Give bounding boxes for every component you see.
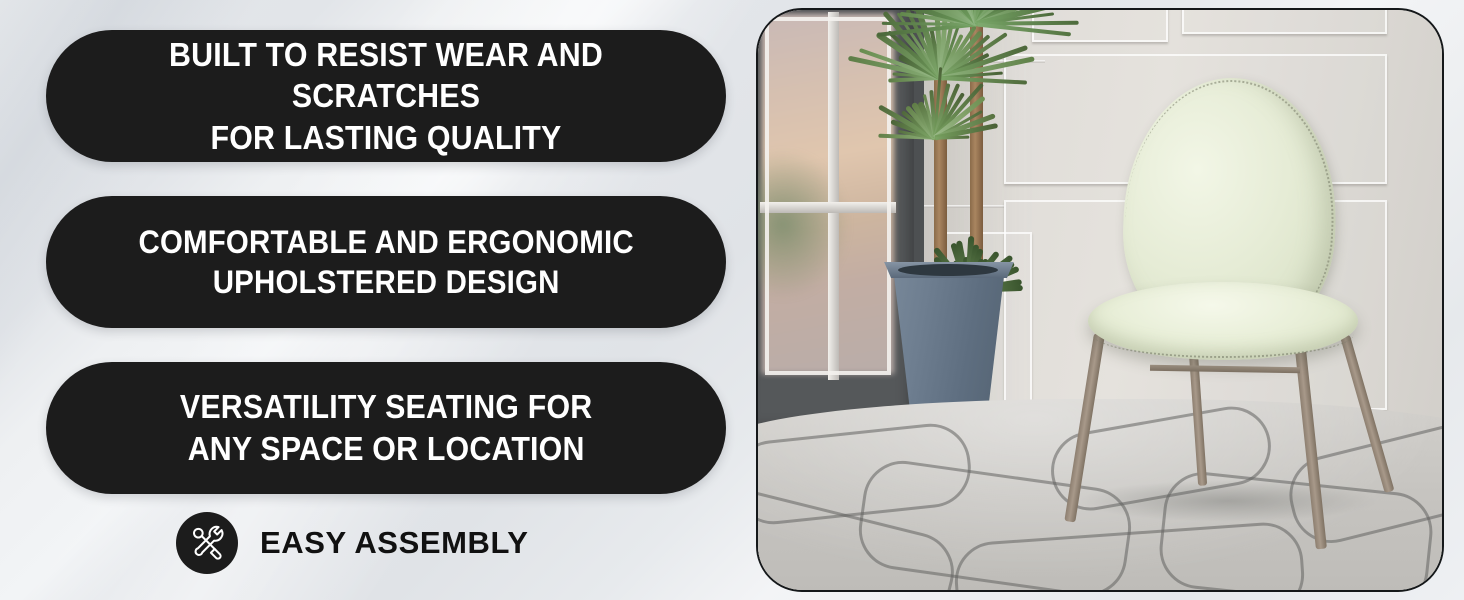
feature-list: BUILT TO RESIST WEAR AND SCRATCHES FOR L… [46, 30, 726, 570]
plant-foliage-crown [976, 22, 978, 24]
feature-pill-comfort: COMFORTABLE AND ERGONOMIC UPHOLSTERED DE… [46, 196, 726, 328]
feature-pill-versatility-label: VERSATILITY SEATING FOR ANY SPACE OR LOC… [180, 386, 592, 469]
wall-panel-molding [1182, 10, 1387, 34]
plant-foliage-crown [934, 136, 936, 138]
room-scene [758, 10, 1442, 590]
infographic-page: BUILT TO RESIST WEAR AND SCRATCHES FOR L… [0, 0, 1464, 600]
chair-seat-stitching [1092, 310, 1354, 358]
feature-pill-durability: BUILT TO RESIST WEAR AND SCRATCHES FOR L… [46, 30, 726, 162]
planter-soil [898, 264, 998, 276]
chair-shadow [1078, 480, 1378, 522]
feature-pill-versatility: VERSATILITY SEATING FOR ANY SPACE OR LOC… [46, 362, 726, 494]
feature-pill-comfort-label: COMFORTABLE AND ERGONOMIC UPHOLSTERED DE… [138, 222, 633, 303]
easy-assembly-label: EASY ASSEMBLY [260, 525, 529, 561]
product-photo [756, 8, 1444, 592]
easy-assembly-row: EASY ASSEMBLY [176, 512, 529, 574]
feature-pill-durability-label: BUILT TO RESIST WEAR AND SCRATCHES FOR L… [104, 34, 667, 159]
window-inner-frame [760, 12, 896, 380]
wrench-screwdriver-icon [176, 512, 238, 574]
